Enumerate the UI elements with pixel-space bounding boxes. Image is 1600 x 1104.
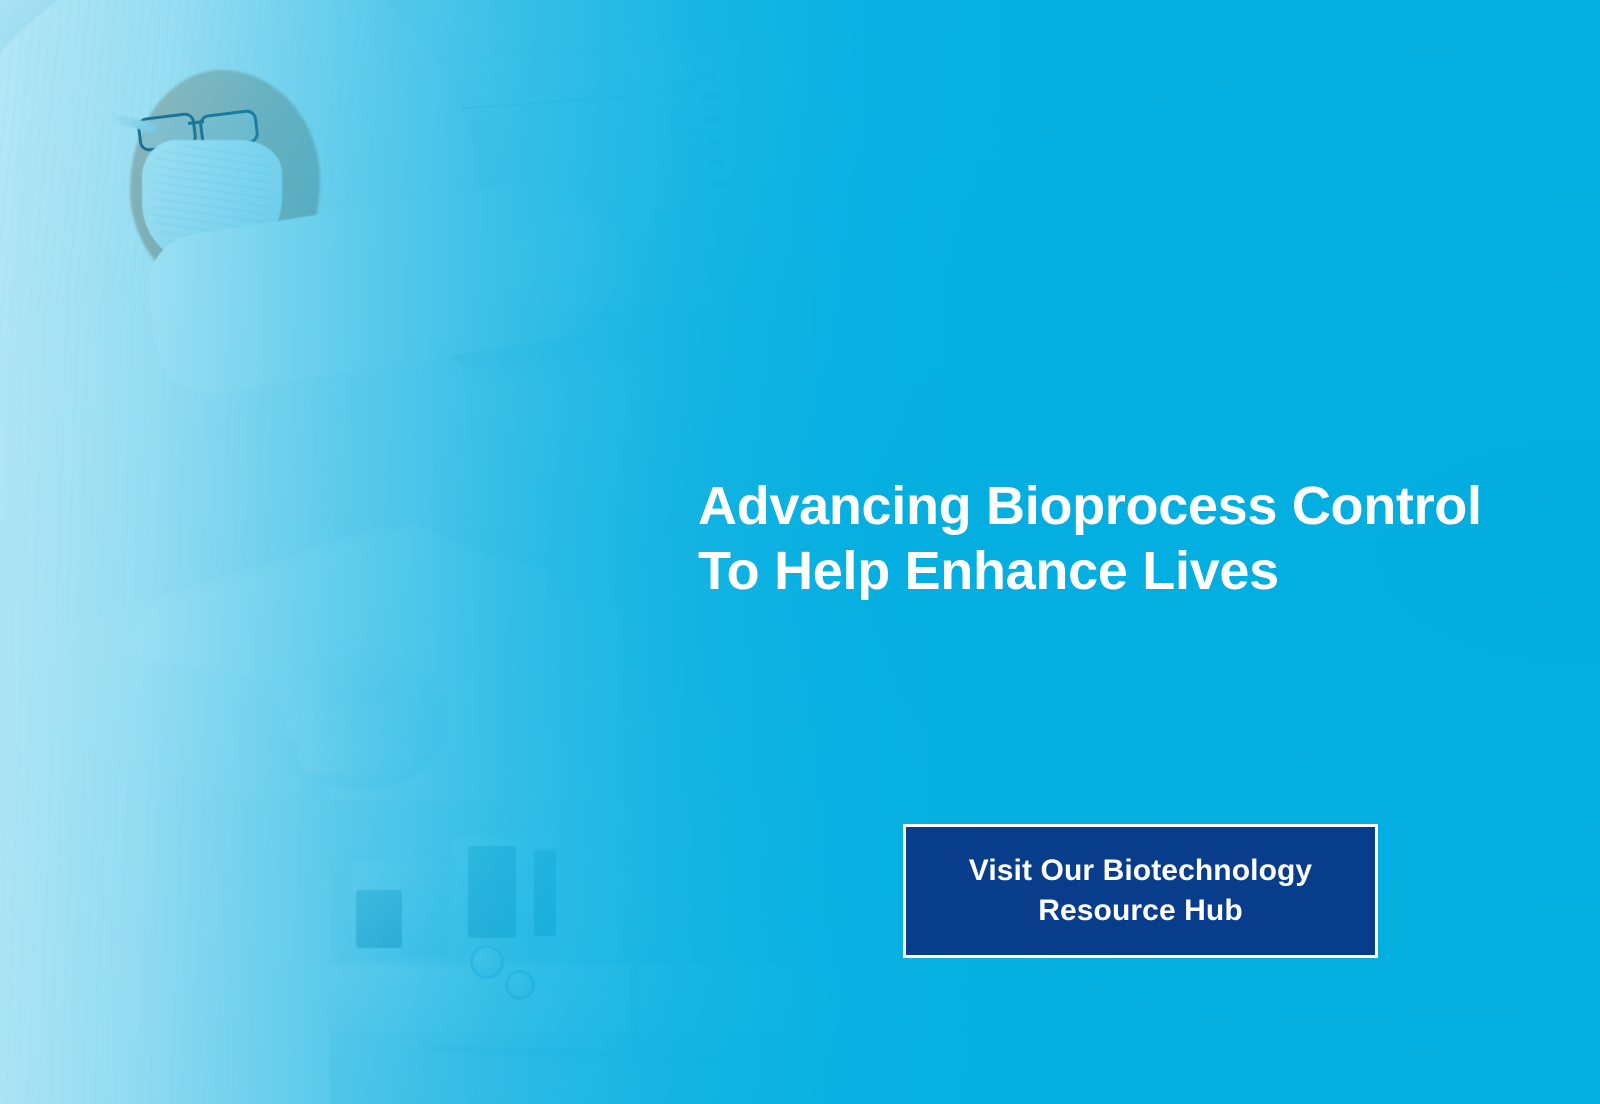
hero-banner: Advancing Bioprocess Control To Help Enh… [0, 0, 1600, 1104]
hero-content: Advancing Bioprocess Control To Help Enh… [0, 0, 1600, 1104]
visit-biotechnology-resource-hub-button[interactable]: Visit Our Biotechnology Resource Hub [903, 824, 1378, 958]
headline-line-2: To Help Enhance Lives [698, 539, 1518, 604]
cta-line-2: Resource Hub [1038, 891, 1243, 931]
page-title: Advancing Bioprocess Control To Help Enh… [698, 474, 1518, 605]
headline-line-1: Advancing Bioprocess Control [698, 474, 1518, 539]
cta-line-1: Visit Our Biotechnology [969, 851, 1312, 891]
